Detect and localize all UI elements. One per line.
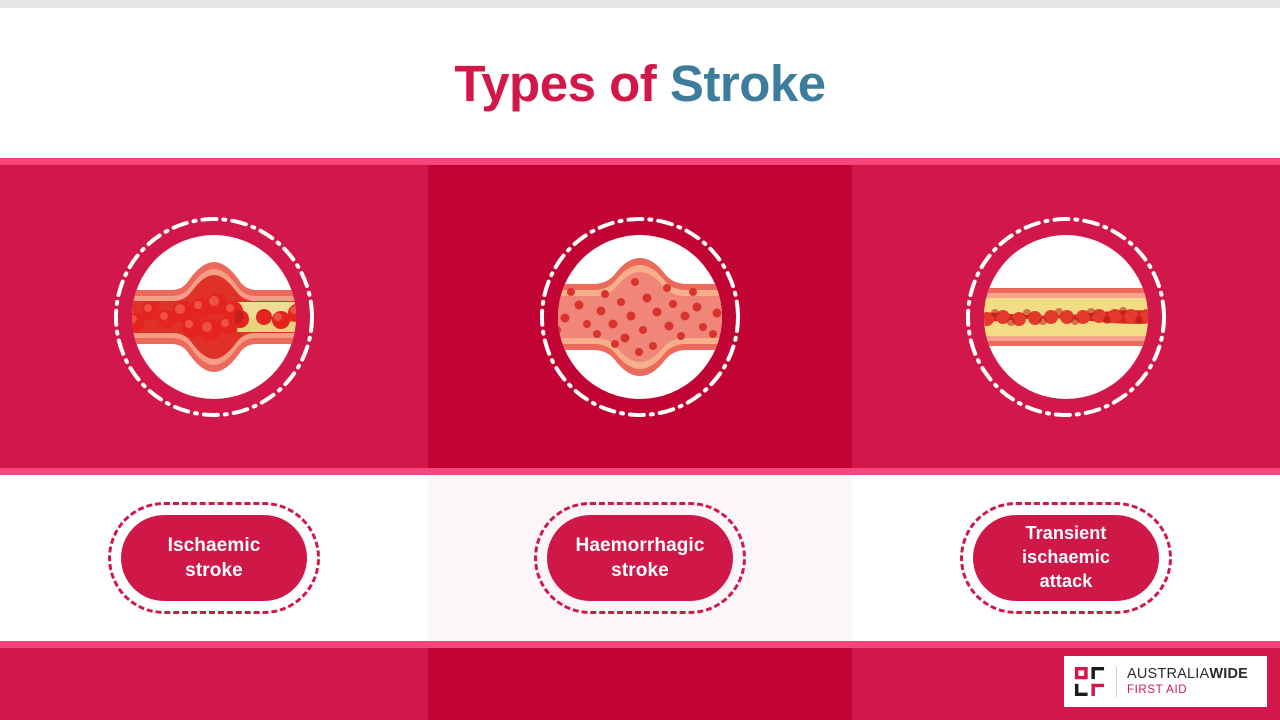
pill-label-ischaemic-stroke: Ischaemic stroke	[162, 533, 267, 584]
title-part-types-of: Types of	[454, 55, 670, 112]
pill-label-haemorrhagic-stroke: Haemorrhagic stroke	[570, 533, 711, 584]
australia-wide-cross-mark	[1073, 665, 1106, 698]
narrowed-vessel-illustration	[961, 212, 1171, 422]
band-top-accent-stripe	[0, 158, 1280, 165]
pill-label-transient-ischaemic-attack: Transient ischaemic attack	[1016, 522, 1116, 593]
pill-transient-ischaemic-attack[interactable]: Transient ischaemic attack	[960, 502, 1172, 614]
logo-line-australiawide: AUSTRALIAWIDE	[1127, 667, 1248, 682]
logo-divider	[1116, 667, 1117, 697]
illustration-column-transient-ischaemic-attack[interactable]	[852, 158, 1280, 475]
pill-haemorrhagic-stroke-fill: Haemorrhagic stroke	[547, 515, 733, 601]
footer-column-2	[428, 641, 852, 720]
pill-ischaemic-stroke[interactable]: Ischaemic stroke	[108, 502, 320, 614]
illustration-column-ischaemic[interactable]	[0, 158, 428, 475]
illustration-band	[0, 158, 1280, 475]
slide-root: Types of Stroke	[0, 0, 1280, 720]
title-part-stroke: Stroke	[670, 55, 826, 112]
page-title: Types of Stroke	[454, 54, 825, 113]
pill-haemorrhagic-stroke[interactable]: Haemorrhagic stroke	[534, 502, 746, 614]
logo-word-wide: WIDE	[1209, 666, 1248, 682]
band-bottom-accent-stripe	[0, 468, 1280, 475]
pill-transient-ischaemic-attack-fill: Transient ischaemic attack	[973, 515, 1159, 601]
bulging-vessel-illustration	[535, 212, 745, 422]
logo-line-first-aid: FIRST AID	[1127, 685, 1248, 697]
label-cell-ischaemic: Ischaemic stroke	[0, 475, 428, 641]
logo-word-australia: AUSTRALIA	[1127, 666, 1209, 682]
label-row: Ischaemic stroke Haemorrhagic stroke Tra…	[0, 475, 1280, 641]
logo-text: AUSTRALIAWIDE FIRST AID	[1127, 667, 1248, 697]
top-chrome-strip	[0, 0, 1280, 8]
label-cell-transient-ischaemic-attack: Transient ischaemic attack	[852, 475, 1280, 641]
footer-column-1	[0, 641, 428, 720]
title-area: Types of Stroke	[0, 8, 1280, 158]
pill-ischaemic-stroke-fill: Ischaemic stroke	[121, 515, 307, 601]
brand-logo[interactable]: AUSTRALIAWIDE FIRST AID	[1064, 656, 1267, 707]
blood-clot-vessel-illustration	[109, 212, 319, 422]
label-cell-haemorrhagic: Haemorrhagic stroke	[428, 475, 852, 641]
footer-top-accent-stripe	[0, 641, 1280, 648]
illustration-column-haemorrhagic[interactable]	[428, 158, 852, 475]
